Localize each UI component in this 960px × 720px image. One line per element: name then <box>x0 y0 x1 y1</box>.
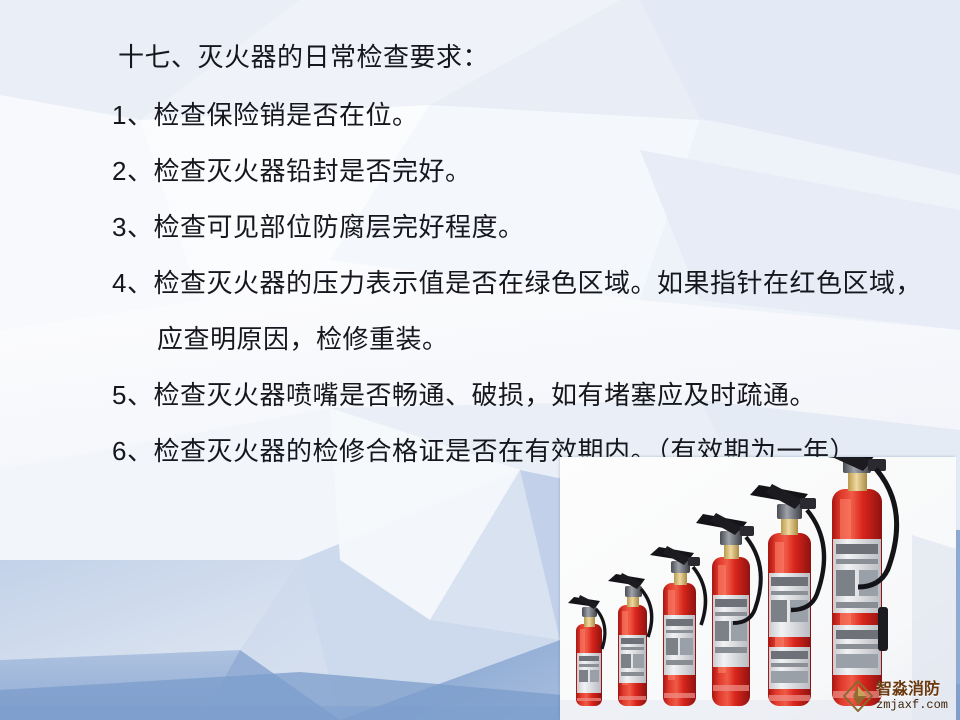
slide-text-block: 十七、灭火器的日常检查要求： 1、检查保险销是否在位。 2、检查灭火器铅封是否完… <box>112 44 948 494</box>
list-item-4: 4、检查灭火器的压力表示值是否在绿色区域。如果指针在红色区域， <box>112 270 948 296</box>
list-item-5: 5、检查灭火器喷嘴是否畅通、破损，如有堵塞应及时疏通。 <box>112 382 948 408</box>
list-item-1-text: 检查保险销是否在位。 <box>153 100 418 130</box>
fire-extinguishers-illustration <box>560 457 956 720</box>
list-item-1-marker: 1、 <box>112 100 153 130</box>
fire-extinguishers-photo <box>560 457 956 720</box>
list-item-2: 2、检查灭火器铅封是否完好。 <box>112 158 948 184</box>
list-item-3: 3、检查可见部位防腐层完好程度。 <box>112 214 948 240</box>
list-item-4-text: 检查灭火器的压力表示值是否在绿色区域。如果指针在红色区域， <box>153 268 922 298</box>
list-item-2-marker: 2、 <box>112 156 153 186</box>
list-item-5-marker: 5、 <box>112 380 153 410</box>
list-item-5-text: 检查灭火器喷嘴是否畅通、破损，如有堵塞应及时疏通。 <box>153 380 816 410</box>
list-item-3-marker: 3、 <box>112 212 153 242</box>
list-item-4-marker: 4、 <box>112 268 153 298</box>
list-item-4-continuation: 应查明原因，检修重装。 <box>112 326 948 352</box>
list-item-2-text: 检查灭火器铅封是否完好。 <box>153 156 471 186</box>
list-item-3-text: 检查可见部位防腐层完好程度。 <box>153 212 524 242</box>
list-item-1: 1、检查保险销是否在位。 <box>112 102 948 128</box>
list-item-6-marker: 6、 <box>112 436 153 466</box>
slide-title: 十七、灭火器的日常检查要求： <box>112 44 948 70</box>
slide-canvas: 十七、灭火器的日常检查要求： 1、检查保险销是否在位。 2、检查灭火器铅封是否完… <box>0 0 960 720</box>
